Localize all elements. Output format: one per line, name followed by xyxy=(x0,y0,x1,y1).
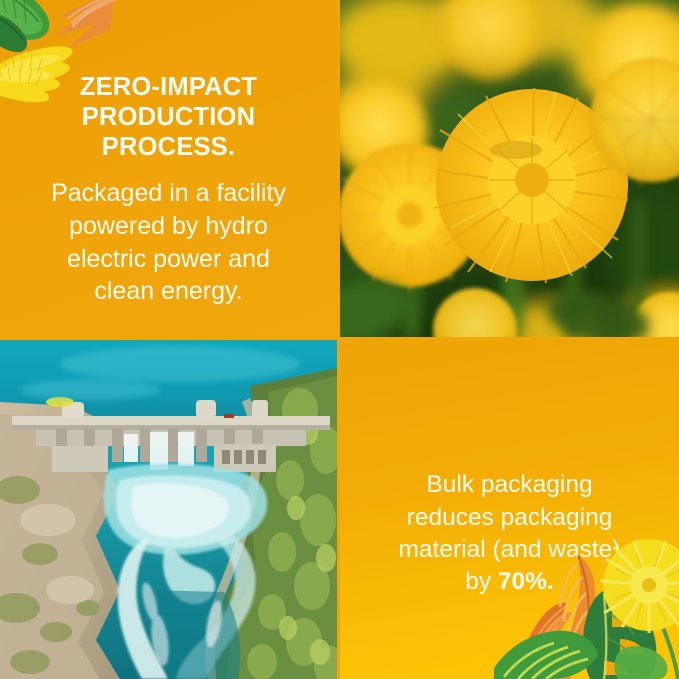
infographic-canvas: ZERO-IMPACT PRODUCTION PROCESS. Packaged… xyxy=(0,0,679,679)
panel-hydro-dam-photo xyxy=(0,340,337,679)
stat-prefix: by xyxy=(465,568,498,595)
dandelion-field-image xyxy=(340,0,679,337)
green-leaf-icon xyxy=(494,631,598,679)
zero-impact-text-block: ZERO-IMPACT PRODUCTION PROCESS. Packaged… xyxy=(0,72,337,308)
panel-dandelion-photo xyxy=(340,0,679,337)
green-leaf-icon xyxy=(0,12,27,52)
zero-impact-body: Packaged in a facility powered by hydro … xyxy=(14,177,323,308)
bulk-packaging-text-block: Bulk packaging reduces packaging materia… xyxy=(340,437,679,631)
stat-value: 70% xyxy=(498,568,547,595)
hydroelectric-dam-image xyxy=(0,340,337,679)
stat-suffix: . xyxy=(547,568,554,595)
zero-impact-heading: ZERO-IMPACT PRODUCTION PROCESS. xyxy=(14,72,323,162)
green-leaf-icon xyxy=(615,646,668,679)
green-leaf-icon xyxy=(0,0,49,40)
panel-bulk-packaging: Bulk packaging reduces packaging materia… xyxy=(340,340,679,679)
panel-zero-impact: ZERO-IMPACT PRODUCTION PROCESS. Packaged… xyxy=(0,0,337,337)
palm-frond-icon xyxy=(54,0,118,49)
bulk-packaging-stat-line: by 70%. xyxy=(358,566,661,598)
bulk-packaging-body: Bulk packaging reduces packaging materia… xyxy=(399,471,621,563)
